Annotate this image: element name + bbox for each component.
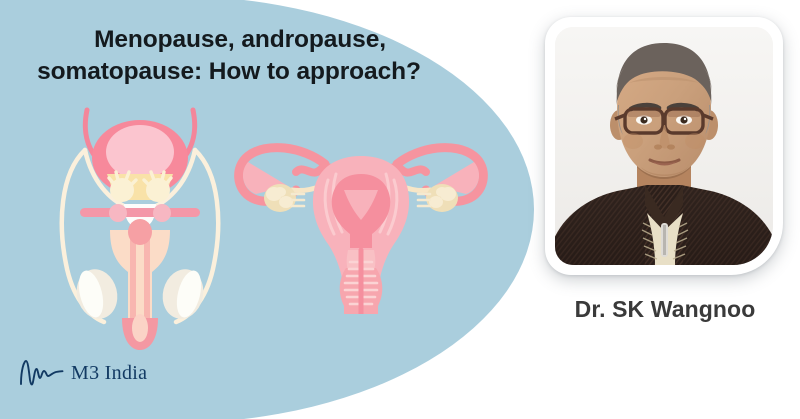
slide-canvas: Menopause, andropause, somatopause: How … xyxy=(0,0,800,419)
waveform-icon xyxy=(18,358,64,388)
speaker-portrait-card xyxy=(545,17,783,275)
speaker-portrait-photo xyxy=(555,27,773,265)
page-title: Menopause, andropause, somatopause: How … xyxy=(14,24,444,88)
brand-logo: M3 India xyxy=(18,358,147,388)
page-title-line-1: Menopause, andropause, xyxy=(14,24,444,56)
female-anatomy-illustration xyxy=(232,134,490,314)
speaker-name: Dr. SK Wangnoo xyxy=(540,296,790,323)
brand-name: M3 India xyxy=(71,362,147,385)
page-title-line-2: somatopause: How to approach? xyxy=(14,56,444,88)
male-anatomy-illustration xyxy=(52,104,228,352)
